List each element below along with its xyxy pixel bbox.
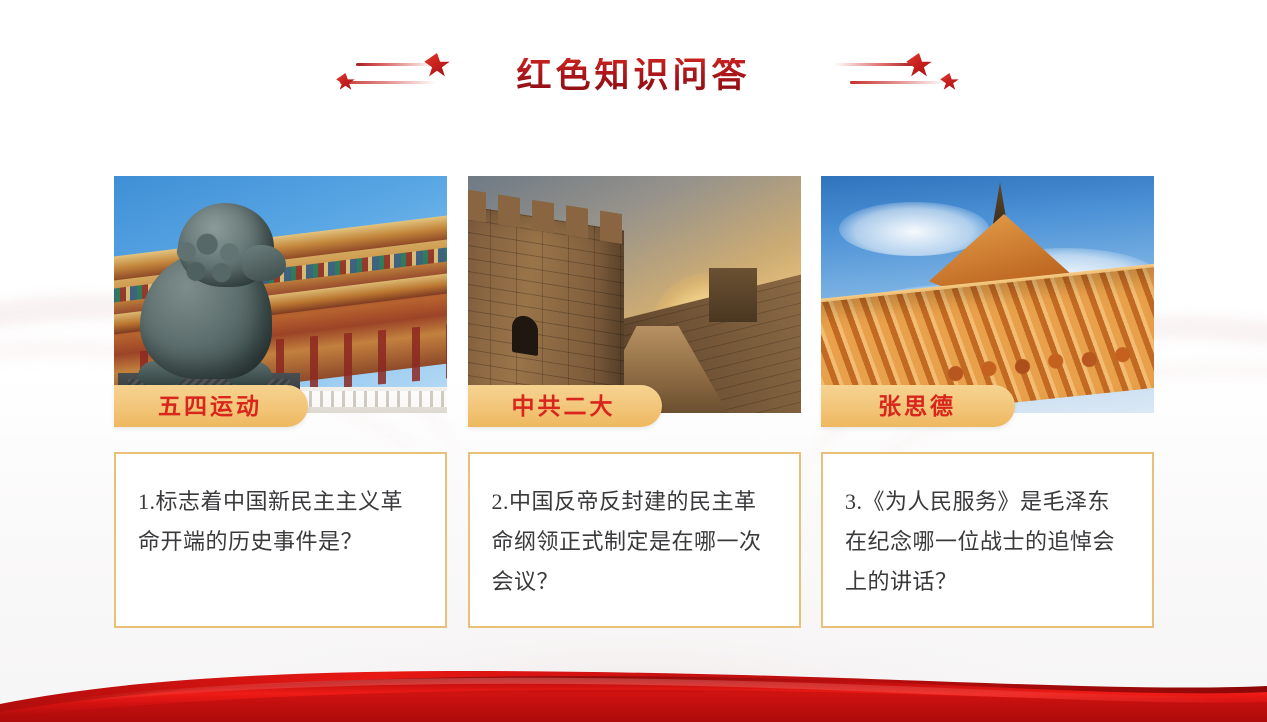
photo-thumbnail-1[interactable] [114,176,447,413]
photo-card-2[interactable]: 中共二大 [468,176,801,413]
photo-scene-forbidden-city [114,176,447,413]
photo-thumbnail-2[interactable] [468,176,801,413]
streak-icon [834,63,914,66]
photo-label-text: 五四运动 [158,395,262,418]
ribbon-shape [0,630,1267,722]
question-box-2[interactable]: 2.中国反帝反封建的民主革命纲领正式制定是在哪一次会议？ [468,452,801,628]
page-title: 红色知识问答 [464,58,802,93]
photo-label-banner-3[interactable]: 张思德 [821,385,1015,427]
bottom-red-ribbon [0,630,1267,722]
photo-label-text: 中共二大 [512,395,616,418]
question-text: 3.《为人民服务》是毛泽东在纪念哪一位战士的追悼会上的讲话？ [845,482,1128,602]
slide-canvas: 红色知识问答 [0,0,1267,722]
photo-label-text: 张思德 [878,395,956,418]
question-box-row: 1.标志着中国新民主主义革命开端的历史事件是？ 2.中国反帝反封建的民主革命纲领… [114,452,1154,628]
question-text: 2.中国反帝反封建的民主革命纲领正式制定是在哪一次会议？ [492,482,775,602]
streak-icon [850,81,946,84]
title-decoration-right [830,50,960,98]
photo-card-row: 五四运动 中共二大 [114,176,1154,413]
question-box-1[interactable]: 1.标志着中国新民主主义革命开端的历史事件是？ [114,452,447,628]
photo-card-1[interactable]: 五四运动 [114,176,447,413]
question-box-3[interactable]: 3.《为人民服务》是毛泽东在纪念哪一位战士的追悼会上的讲话？ [821,452,1154,628]
slide-header: 红色知识问答 [0,48,1267,102]
photo-label-banner-2[interactable]: 中共二大 [468,385,662,427]
photo-scene-great-wall [468,176,801,413]
photo-card-3[interactable]: 张思德 [821,176,1154,413]
photo-label-banner-1[interactable]: 五四运动 [114,385,308,427]
question-text: 1.标志着中国新民主主义革命开端的历史事件是？ [138,482,421,562]
photo-scene-temple-roof [821,176,1154,413]
photo-thumbnail-3[interactable] [821,176,1154,413]
